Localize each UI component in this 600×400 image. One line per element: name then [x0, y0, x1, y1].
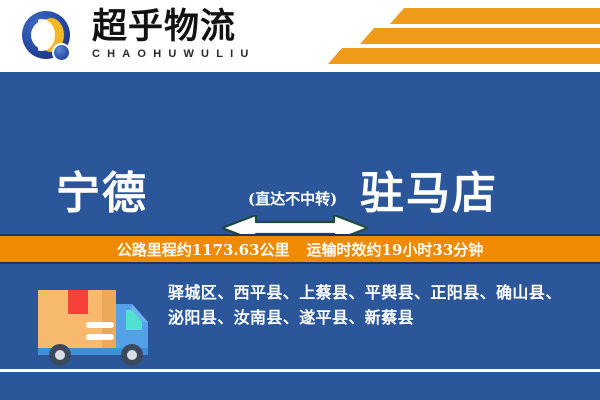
origin-city-label: 宁德	[56, 169, 148, 219]
delivery-truck-icon	[28, 276, 156, 368]
circle-moon-logo-icon	[22, 11, 74, 63]
distance-text: 公路里程约1173.63公里	[117, 239, 290, 260]
route-banner: 宁德 (直达不中转) 【往返运输】 驻马店	[0, 72, 600, 234]
duration-text: 运输时效约19小时33分钟	[307, 239, 484, 260]
stripe-1	[390, 8, 600, 24]
header-bar: 超乎物流 CHAOHUWULIU	[0, 0, 600, 72]
district-line-1: 驿城区、西平县、上蔡县、平舆县、正阳县、确山县、	[168, 280, 586, 305]
logo-accent-dot	[52, 43, 71, 62]
logistics-route-poster: 超乎物流 CHAOHUWULIU 宁德 (直达不中转) 【往返运输】 驻马店 公…	[0, 0, 600, 400]
destination-city-label: 驻马店	[360, 169, 498, 219]
route-info-bar: 公路里程约1173.63公里 运输时效约19小时33分钟	[0, 234, 600, 264]
footer-divider	[0, 369, 600, 372]
route-note-direct: (直达不中转)	[248, 188, 337, 209]
brand-name-cn: 超乎物流	[92, 7, 256, 47]
coverage-area: 驿城区、西平县、上蔡县、平舆县、正阳县、确山县、 泌阳县、汝南县、遂平县、新蔡县	[0, 264, 600, 400]
stripe-3	[328, 48, 600, 64]
stripe-2	[360, 28, 600, 44]
district-line-2: 泌阳县、汝南县、遂平县、新蔡县	[168, 305, 586, 330]
covered-districts-list: 驿城区、西平县、上蔡县、平舆县、正阳县、确山县、 泌阳县、汝南县、遂平县、新蔡县	[168, 280, 586, 330]
orange-speed-stripes-icon	[310, 6, 600, 68]
brand-name-en: CHAOHUWULIU	[92, 48, 256, 60]
brand-block: 超乎物流 CHAOHUWULIU	[92, 7, 256, 60]
